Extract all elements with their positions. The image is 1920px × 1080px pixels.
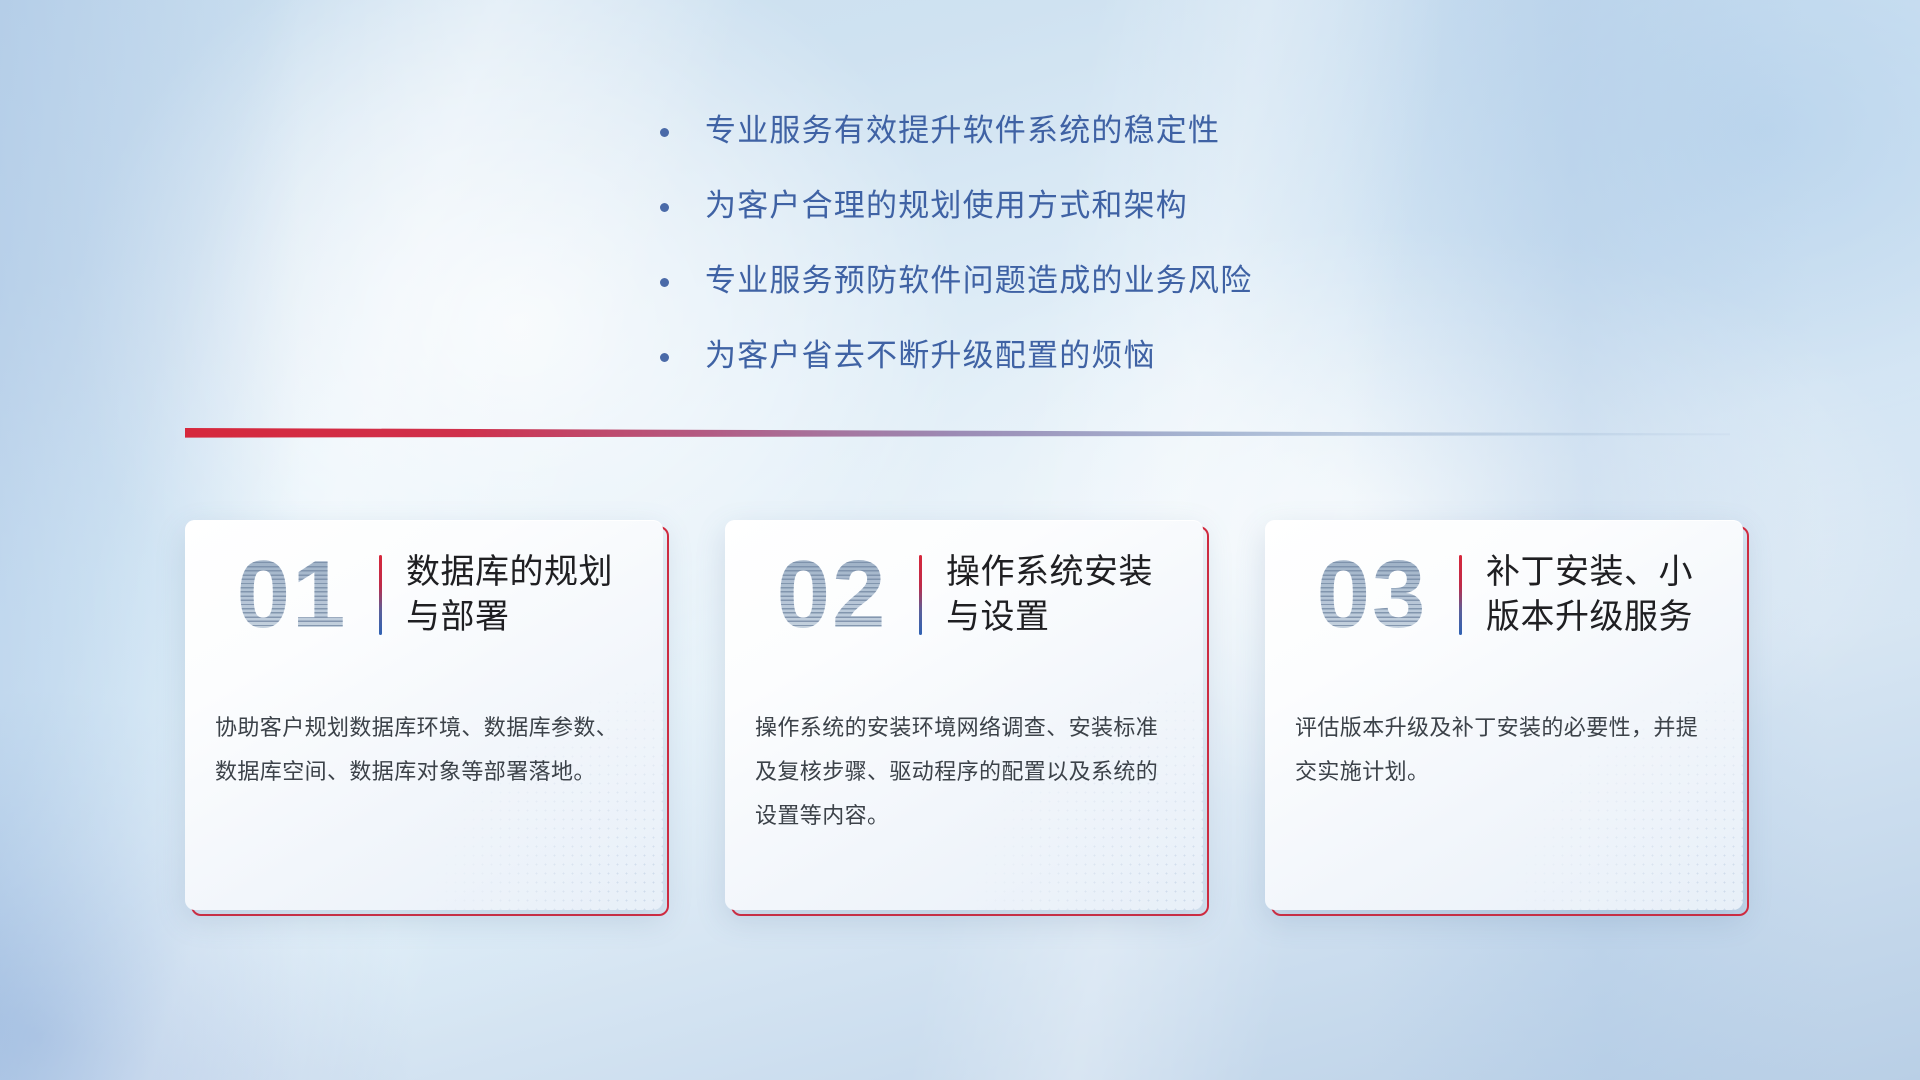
service-card[interactable]: 03 补丁安装、小版本升级服务 评估版本升级及补丁安装的必要性，并提交实施计划。 xyxy=(1265,520,1743,910)
card-title: 数据库的规划与部署 xyxy=(406,550,641,640)
slide-root: 专业服务有效提升软件系统的稳定性 为客户合理的规划使用方式和架构 专业服务预防软… xyxy=(0,0,1920,1080)
bullet-dot-icon xyxy=(660,353,669,362)
card-header: 03 补丁安装、小版本升级服务 xyxy=(1265,520,1743,670)
list-item: 专业服务预防软件问题造成的业务风险 xyxy=(660,260,1252,302)
card-title: 补丁安装、小版本升级服务 xyxy=(1486,550,1721,640)
list-item: 专业服务有效提升软件系统的稳定性 xyxy=(660,110,1252,152)
card-number: 02 xyxy=(751,547,913,643)
benefits-bullet-list: 专业服务有效提升软件系统的稳定性 为客户合理的规划使用方式和架构 专业服务预防软… xyxy=(660,110,1252,409)
card-title: 操作系统安装与设置 xyxy=(946,550,1181,640)
card-body: 03 补丁安装、小版本升级服务 评估版本升级及补丁安装的必要性，并提交实施计划。 xyxy=(1265,520,1743,910)
list-item: 为客户省去不断升级配置的烦恼 xyxy=(660,335,1252,377)
bullet-text: 为客户合理的规划使用方式和架构 xyxy=(705,185,1188,227)
bullet-text: 专业服务有效提升软件系统的稳定性 xyxy=(705,110,1220,152)
service-card-group: 01 数据库的规划与部署 协助客户规划数据库环境、数据库参数、数据库空间、数据库… xyxy=(185,520,1745,920)
list-item: 为客户合理的规划使用方式和架构 xyxy=(660,185,1252,227)
bullet-dot-icon xyxy=(660,203,669,212)
service-card[interactable]: 02 操作系统安装与设置 操作系统的安装环境网络调查、安装标准及复核步骤、驱动程… xyxy=(725,520,1203,910)
card-divider-bar-icon xyxy=(379,555,382,635)
card-number: 03 xyxy=(1291,547,1453,643)
bullet-text: 为客户省去不断升级配置的烦恼 xyxy=(705,335,1156,377)
card-header: 01 数据库的规划与部署 xyxy=(185,520,663,670)
service-card[interactable]: 01 数据库的规划与部署 协助客户规划数据库环境、数据库参数、数据库空间、数据库… xyxy=(185,520,663,910)
bullet-text: 专业服务预防软件问题造成的业务风险 xyxy=(705,260,1252,302)
section-divider xyxy=(185,424,1730,444)
card-body: 01 数据库的规划与部署 协助客户规划数据库环境、数据库参数、数据库空间、数据库… xyxy=(185,520,663,910)
card-description: 协助客户规划数据库环境、数据库参数、数据库空间、数据库对象等部署落地。 xyxy=(215,706,633,794)
card-number: 01 xyxy=(211,547,373,643)
bullet-dot-icon xyxy=(660,128,669,137)
card-description: 评估版本升级及补丁安装的必要性，并提交实施计划。 xyxy=(1295,706,1713,794)
card-header: 02 操作系统安装与设置 xyxy=(725,520,1203,670)
card-divider-bar-icon xyxy=(919,555,922,635)
bullet-dot-icon xyxy=(660,278,669,287)
card-description: 操作系统的安装环境网络调查、安装标准及复核步骤、驱动程序的配置以及系统的设置等内… xyxy=(755,706,1173,838)
card-divider-bar-icon xyxy=(1459,555,1462,635)
card-body: 02 操作系统安装与设置 操作系统的安装环境网络调查、安装标准及复核步骤、驱动程… xyxy=(725,520,1203,910)
